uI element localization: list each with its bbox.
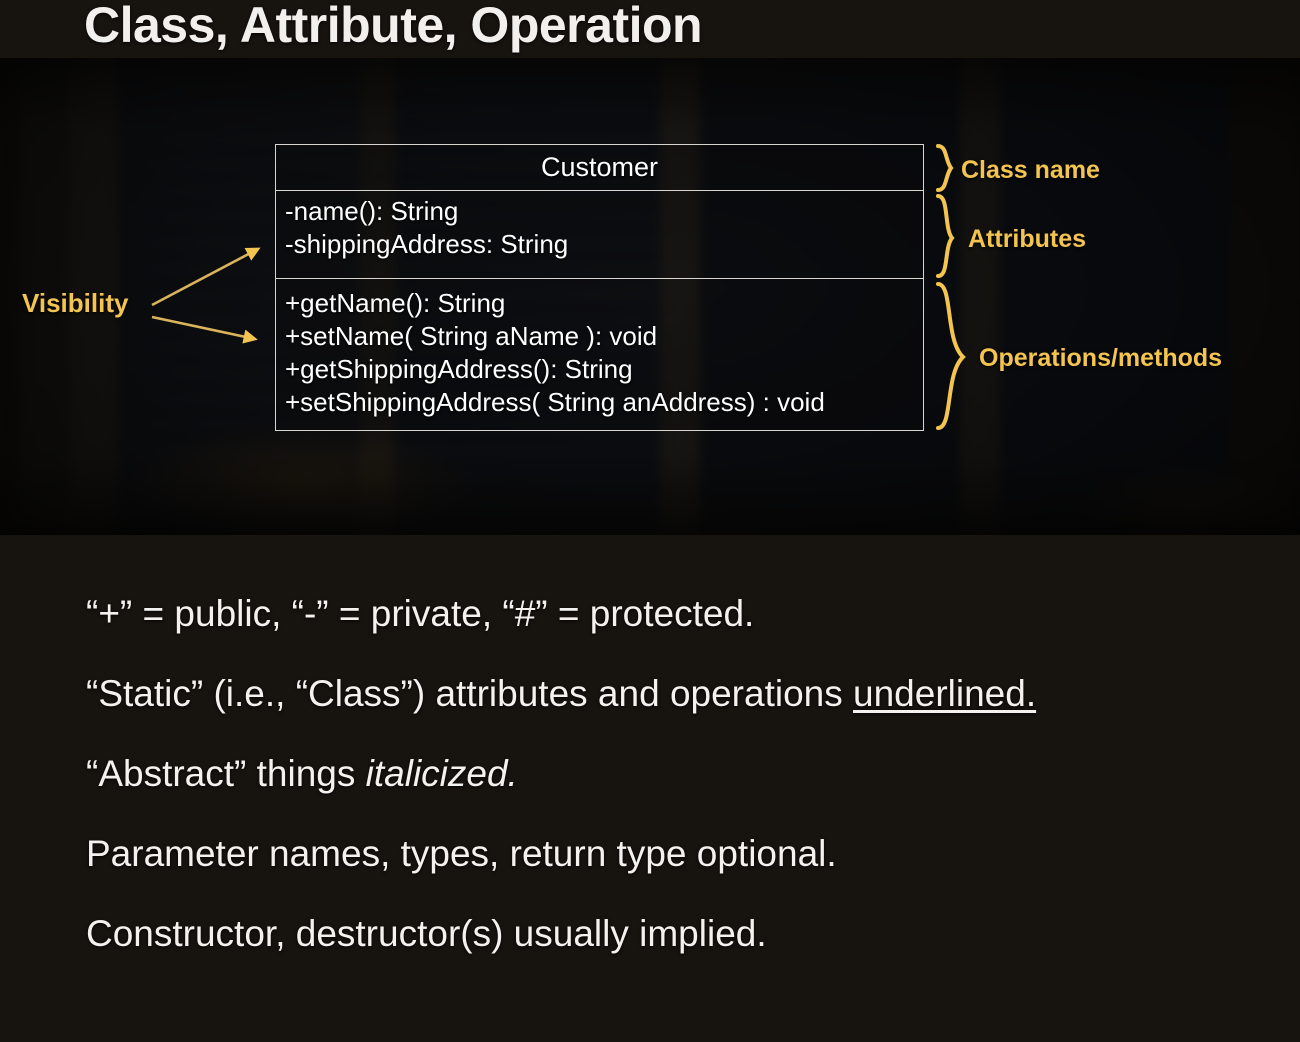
body-text-span: Constructor, destructor(s) usually impli…	[86, 913, 767, 954]
body-text-span: “Static” (i.e., “Class”) attributes and …	[86, 673, 853, 714]
uml-class-name: Customer	[541, 152, 658, 183]
uml-operation-row: +setName( String aName ): void	[285, 320, 923, 353]
uml-operation-row: +setShippingAddress( String anAddress) :…	[285, 386, 923, 419]
uml-attribute-row: -name(): String	[285, 195, 923, 228]
uml-operations-compartment: +getName(): String +setName( String aNam…	[276, 279, 923, 419]
callout-label-visibility: Visibility	[22, 288, 128, 319]
uml-operation-row: +getShippingAddress(): String	[285, 353, 923, 386]
slide-canvas: Class, Attribute, Operation Customer -na…	[0, 0, 1300, 1042]
uml-operation-row: +getName(): String	[285, 287, 923, 320]
body-text-span: italicized.	[366, 753, 518, 794]
uml-attribute-row: -shippingAddress: String	[285, 228, 923, 261]
body-text-span: “+” = public, “-” = private, “#” = prote…	[86, 593, 754, 634]
uml-class-name-compartment: Customer	[276, 145, 923, 191]
callout-label-class-name: Class name	[961, 156, 1100, 185]
callout-label-attributes: Attributes	[968, 225, 1086, 254]
body-line: “+” = public, “-” = private, “#” = prote…	[86, 586, 1206, 641]
body-text-span: Parameter names, types, return type opti…	[86, 833, 837, 874]
body-text-block: “+” = public, “-” = private, “#” = prote…	[86, 586, 1206, 986]
uml-attributes-compartment: -name(): String -shippingAddress: String	[276, 191, 923, 279]
body-line: Parameter names, types, return type opti…	[86, 826, 1206, 881]
page-title: Class, Attribute, Operation	[84, 0, 702, 54]
body-line: “Abstract” things italicized.	[86, 746, 1206, 801]
uml-class-box: Customer -name(): String -shippingAddres…	[275, 144, 924, 431]
body-line: Constructor, destructor(s) usually impli…	[86, 906, 1206, 961]
body-text-span: “Abstract” things	[86, 753, 366, 794]
callout-label-operations: Operations/methods	[979, 344, 1222, 373]
body-text-span: underlined.	[853, 673, 1036, 714]
body-line: “Static” (i.e., “Class”) attributes and …	[86, 666, 1206, 721]
